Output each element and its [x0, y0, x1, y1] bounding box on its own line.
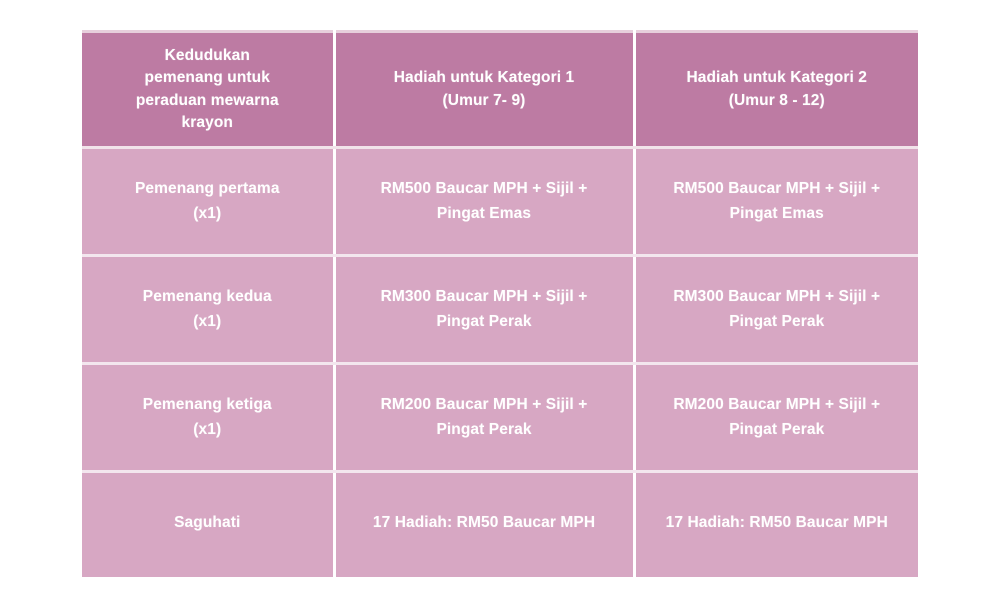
cell-category-1-prize-label: RM500 Baucar MPH + Sijil + Pingat Emas [336, 177, 633, 225]
cell-category-1-prize: RM500 Baucar MPH + Sijil + Pingat Emas [334, 148, 634, 256]
cell-category-2-prize: RM500 Baucar MPH + Sijil + Pingat Emas [634, 148, 918, 256]
cell-category-2-prize-label: 17 Hadiah: RM50 Baucar MPH [636, 511, 919, 535]
cell-category-2-prize-label: RM500 Baucar MPH + Sijil + Pingat Emas [636, 177, 919, 225]
cell-rank-label: Pemenang kedua (x1) [82, 285, 333, 333]
table-header: Kedudukan pemenang untuk peraduan mewarn… [82, 32, 918, 148]
column-header-category-1-label: Hadiah untuk Kategori 1 (Umur 7- 9) [336, 67, 633, 112]
table-row: Saguhati 17 Hadiah: RM50 Baucar MPH 17 H… [82, 472, 918, 578]
table-row: Pemenang ketiga (x1) RM200 Baucar MPH + … [82, 364, 918, 472]
column-header-rank: Kedudukan pemenang untuk peraduan mewarn… [82, 32, 334, 148]
page-root: Kedudukan pemenang untuk peraduan mewarn… [0, 0, 1000, 600]
cell-category-2-prize: RM300 Baucar MPH + Sijil + Pingat Perak [634, 256, 918, 364]
cell-category-1-prize-label: RM300 Baucar MPH + Sijil + Pingat Perak [336, 285, 633, 333]
column-header-rank-label: Kedudukan pemenang untuk peraduan mewarn… [82, 45, 333, 135]
table-body: Pemenang pertama (x1) RM500 Baucar MPH +… [82, 148, 918, 578]
cell-category-1-prize-label: 17 Hadiah: RM50 Baucar MPH [336, 511, 633, 535]
cell-rank: Pemenang kedua (x1) [82, 256, 334, 364]
cell-category-1-prize: 17 Hadiah: RM50 Baucar MPH [334, 472, 634, 578]
cell-rank-label: Saguhati [82, 511, 333, 535]
cell-category-1-prize: RM300 Baucar MPH + Sijil + Pingat Perak [334, 256, 634, 364]
cell-category-1-prize: RM200 Baucar MPH + Sijil + Pingat Perak [334, 364, 634, 472]
cell-category-2-prize-label: RM300 Baucar MPH + Sijil + Pingat Perak [636, 285, 919, 333]
cell-rank: Pemenang ketiga (x1) [82, 364, 334, 472]
cell-category-1-prize-label: RM200 Baucar MPH + Sijil + Pingat Perak [336, 393, 633, 441]
cell-rank-label: Pemenang ketiga (x1) [82, 393, 333, 441]
cell-category-2-prize-label: RM200 Baucar MPH + Sijil + Pingat Perak [636, 393, 919, 441]
table-header-row: Kedudukan pemenang untuk peraduan mewarn… [82, 32, 918, 148]
prize-table: Kedudukan pemenang untuk peraduan mewarn… [82, 30, 918, 577]
column-header-category-2: Hadiah untuk Kategori 2 (Umur 8 - 12) [634, 32, 918, 148]
table-row: Pemenang pertama (x1) RM500 Baucar MPH +… [82, 148, 918, 256]
column-header-category-2-label: Hadiah untuk Kategori 2 (Umur 8 - 12) [636, 67, 919, 112]
cell-category-2-prize: 17 Hadiah: RM50 Baucar MPH [634, 472, 918, 578]
table-row: Pemenang kedua (x1) RM300 Baucar MPH + S… [82, 256, 918, 364]
cell-rank-label: Pemenang pertama (x1) [82, 177, 333, 225]
cell-rank: Saguhati [82, 472, 334, 578]
cell-category-2-prize: RM200 Baucar MPH + Sijil + Pingat Perak [634, 364, 918, 472]
column-header-category-1: Hadiah untuk Kategori 1 (Umur 7- 9) [334, 32, 634, 148]
cell-rank: Pemenang pertama (x1) [82, 148, 334, 256]
